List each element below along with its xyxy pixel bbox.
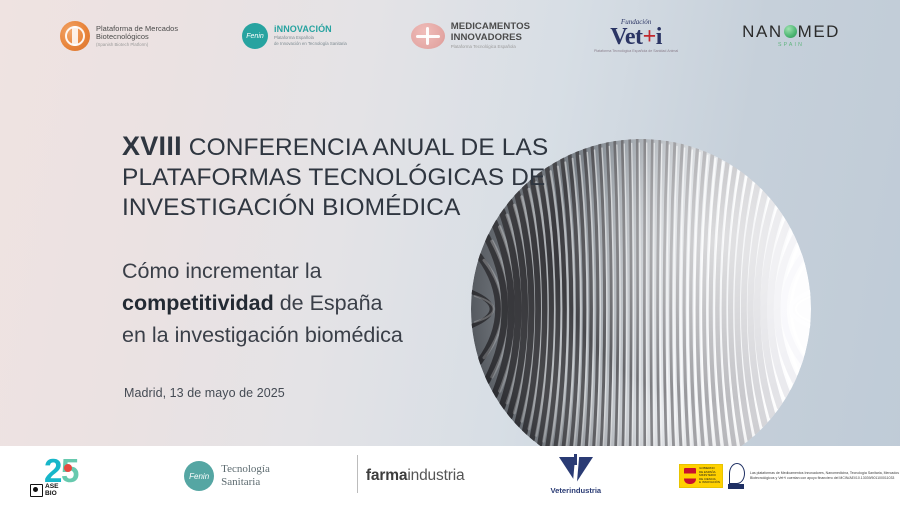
veti-pre: Vet [610,24,642,50]
conference-poster: Plataforma de Mercados Biotecnológicos (… [0,0,900,506]
farmaindustria-wordmark: farmaindustria [366,467,465,485]
asebio-square-icon [30,484,43,497]
fenin-footer-badge: Fenin [184,461,214,491]
asebio-acronym: ASE BIO [45,484,59,497]
event-date: Madrid, 13 de mayo de 2025 [124,386,285,400]
nanomed-post: MED [798,23,840,40]
fenin-footer-line2: Sanitaria [221,476,270,489]
aei-icon [728,463,745,489]
logo-gobierno-espana: GOBIERNO DE ESPAÑA MINISTERIO DE CIENCIA… [679,463,900,489]
subtitle-bold-word: competitividad [122,291,274,315]
footer-logo-bar: 25 ASE BIO Fenin Tecnología Sanitaria fa… [0,446,900,506]
coat-of-arms-icon [684,468,696,484]
conference-title-block: XVIII CONFERENCIA ANUAL DE LAS PLATAFORM… [122,130,592,222]
asebio-red-dot-icon [64,464,72,472]
logo-farmaindustria: farmaindustria [366,467,465,485]
subtitle-line2-rest: de España [274,291,383,315]
title-line2: PLATAFORMAS TECNOLÓGICAS DE [122,164,545,191]
title-line1-rest: CONFERENCIA ANUAL DE LAS [182,134,548,161]
veti-wordmark: Vet+i [594,26,678,49]
logo-fenin-innovacion: Fenin iNNOVACIÓN Plataforma Española de … [242,23,347,49]
subtitle-line3: en la investigación biomédica [122,320,552,352]
subtitle-line1: Cómo incrementar la [122,256,552,288]
nanomed-pre: NAN [742,23,782,40]
fenin-footer-line1: Tecnología [221,463,270,476]
asebio-25-number: 25 [44,454,78,487]
logo-asebio: 25 ASE BIO [30,453,100,499]
nanomed-wordmark: NANMED [742,23,840,40]
funding-note: Las plataformas de Medicamentos Innovado… [750,471,900,481]
veti-post: i [656,24,662,50]
subtitle-line2: competitividad de España [122,288,552,320]
veti-line3: Plataforma Tecnológica Española de Sanid… [594,50,678,54]
veterindustria-v-icon [559,457,593,485]
pmb-line2: Biotecnológicos [96,33,178,41]
title-roman-numeral: XVIII [122,131,182,161]
title-line3: INVESTIGACIÓN BIOMÉDICA [122,194,461,221]
farma-rest: industria [407,467,464,484]
veti-plus: + [643,24,656,50]
conference-subtitle: Cómo incrementar la competitividad de Es… [122,256,552,351]
page-title: XVIII CONFERENCIA ANUAL DE LAS PLATAFORM… [122,130,592,222]
pill-icon [411,23,445,49]
logo-fenin-tecnologia-sanitaria: Fenin Tecnología Sanitaria [184,461,270,491]
fenin-badge: Fenin [242,23,268,49]
farma-bold: farma [366,467,407,484]
nanomed-sub: SPAIN [742,43,840,48]
logo-nanomed-spain: NANMED SPAIN [742,23,840,48]
fenin-footer-text: Tecnología Sanitaria [221,463,270,490]
ministerio-text: GOBIERNO DE ESPAÑA MINISTERIO DE CIENCIA… [699,467,720,485]
ministerio-flag-block: GOBIERNO DE ESPAÑA MINISTERIO DE CIENCIA… [679,464,723,488]
logo-veterindustria: Veterindustria [551,457,602,495]
biotech-network-icon [60,21,90,51]
pmb-line3: (Spanish Biotech Platform) [96,43,178,48]
asebio-acronym-line2: BIO [45,491,59,497]
veterindustria-label: Veterindustria [551,487,602,495]
top-logo-bar: Plataforma de Mercados Biotecnológicos (… [0,0,900,72]
farma-divider [357,455,358,493]
logo-medicamentos-innovadores: MEDICAMENTOS INNOVADORES Plataforma Tecn… [411,22,530,49]
med-line3: Plataforma Tecnológica Española [451,45,530,50]
ministerio-line5: E INNOVACIÓN [699,481,720,485]
logo-fundacion-veti: Fundación Vet+i Plataforma Tecnológica E… [594,19,678,53]
fenin-innovacion-line3: de Innovación en Tecnología Sanitaria [274,42,347,47]
med-line2: INNOVADORES [451,33,530,43]
fenin-innovacion-title: iNNOVACIÓN [274,25,347,35]
green-sphere-icon [784,25,797,38]
logo-plataforma-mercados-biotecnologicos: Plataforma de Mercados Biotecnológicos (… [60,21,178,51]
asebio-wordmark: ASE BIO [30,484,59,497]
